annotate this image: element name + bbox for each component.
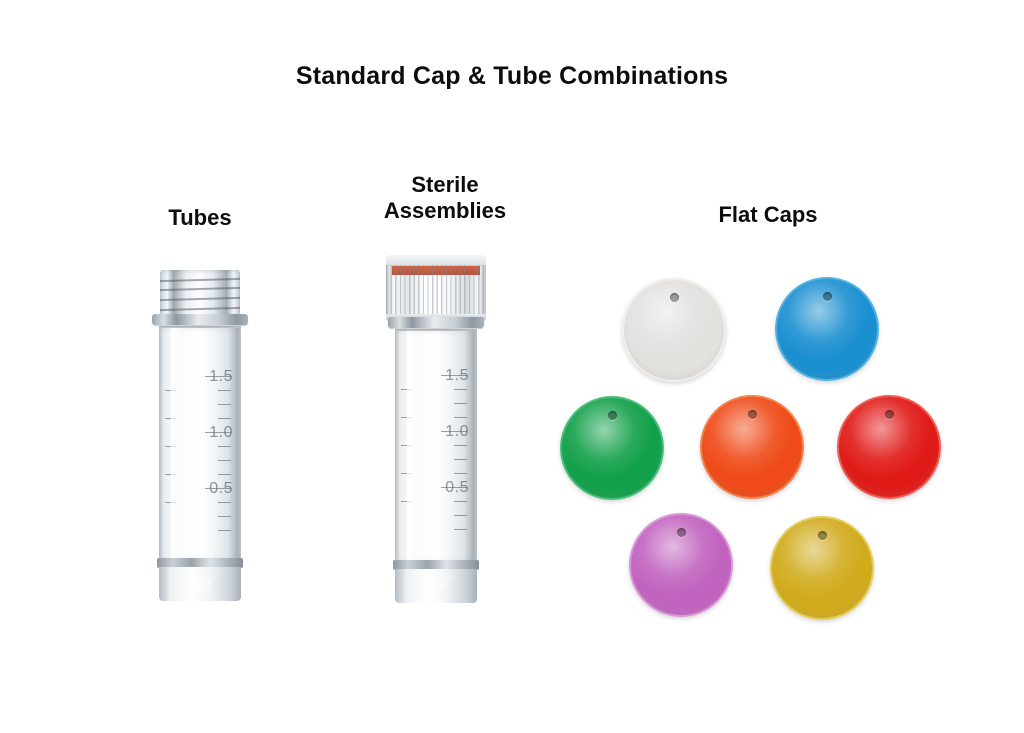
graduation-minor xyxy=(401,417,412,418)
tube-sterile-assembly: 1.5 1.0 0.5 xyxy=(388,255,484,620)
graduation-minor xyxy=(218,474,231,475)
graduation-minor xyxy=(401,389,412,390)
graduation-minor xyxy=(218,460,231,461)
tube-conical-bottom xyxy=(395,569,477,603)
graduation-minor xyxy=(218,446,231,447)
thread-line xyxy=(160,297,240,301)
section-caption-tubes: Tubes xyxy=(100,205,300,231)
tube-conical-bottom xyxy=(159,567,241,601)
thread-line xyxy=(160,287,240,291)
graduation-minor xyxy=(454,445,467,446)
graduation-minor xyxy=(454,417,467,418)
graduation-label-0-5: 0.5 xyxy=(209,480,233,498)
section-caption-sterile-assemblies: Sterile Assemblies xyxy=(345,172,545,224)
cap-center-dimple xyxy=(818,531,827,540)
flat-cap-violet[interactable] xyxy=(629,513,733,617)
flat-cap-blue[interactable] xyxy=(775,277,879,381)
section-caption-flat-caps: Flat Caps xyxy=(668,202,868,228)
graduation-minor xyxy=(454,529,467,530)
cap-dome xyxy=(839,397,939,497)
graduation-label-0-5: 0.5 xyxy=(445,479,469,497)
cap-dome xyxy=(562,398,662,498)
graduation-minor xyxy=(165,502,176,503)
cap-center-dimple xyxy=(677,528,686,537)
graduation-minor xyxy=(401,501,412,502)
graduation-minor xyxy=(165,390,176,391)
graduation-minor xyxy=(218,390,231,391)
graduation-minor xyxy=(454,403,467,404)
graduation-minor xyxy=(165,474,176,475)
graduation-minor xyxy=(454,501,467,502)
graduation-minor xyxy=(218,502,231,503)
graduation-minor xyxy=(218,418,231,419)
graduation-minor xyxy=(454,515,467,516)
cap-center-dimple xyxy=(823,292,832,301)
thread-line xyxy=(160,307,240,311)
graduation-minor xyxy=(454,389,467,390)
graduation-minor xyxy=(454,459,467,460)
flat-cap-yellow[interactable] xyxy=(770,516,874,620)
tube-body: 1.5 1.0 0.5 xyxy=(159,328,241,560)
graduation-minor xyxy=(218,516,231,517)
flat-cap-natural[interactable] xyxy=(622,278,726,382)
page-title: Standard Cap & Tube Combinations xyxy=(0,62,1024,91)
graduation-minor xyxy=(165,418,176,419)
flat-cap-green[interactable] xyxy=(560,396,664,500)
graduation-label-1-5: 1.5 xyxy=(209,368,233,386)
cap-dome xyxy=(772,518,872,618)
cap-dome xyxy=(777,279,877,379)
tube-flange xyxy=(152,314,248,325)
cap-center-dimple xyxy=(670,293,679,302)
graduation-minor xyxy=(454,473,467,474)
sterile-screw-cap xyxy=(386,255,486,321)
graduation-label-1-5: 1.5 xyxy=(445,367,469,385)
cap-center-dimple xyxy=(608,411,617,420)
cap-dome xyxy=(624,280,724,380)
graduation-minor xyxy=(401,445,412,446)
thread-line xyxy=(160,278,240,282)
graduation-label-1-0: 1.0 xyxy=(445,423,469,441)
graduation-minor xyxy=(218,404,231,405)
tube-plain: 1.5 1.0 0.5 xyxy=(152,270,248,620)
graduation-minor xyxy=(218,530,231,531)
cap-center-dimple xyxy=(748,410,757,419)
tube-body: 1.5 1.0 0.5 xyxy=(395,331,477,562)
graduation-minor xyxy=(401,473,412,474)
graduation-minor xyxy=(165,446,176,447)
tube-flange xyxy=(388,317,484,328)
cap-dome xyxy=(631,515,731,615)
flat-cap-red[interactable] xyxy=(837,395,941,499)
cap-center-dimple xyxy=(885,410,894,419)
graduation-label-1-0: 1.0 xyxy=(209,424,233,442)
cap-ridges xyxy=(386,265,486,317)
flat-cap-orange[interactable] xyxy=(700,395,804,499)
cap-dome xyxy=(702,397,802,497)
